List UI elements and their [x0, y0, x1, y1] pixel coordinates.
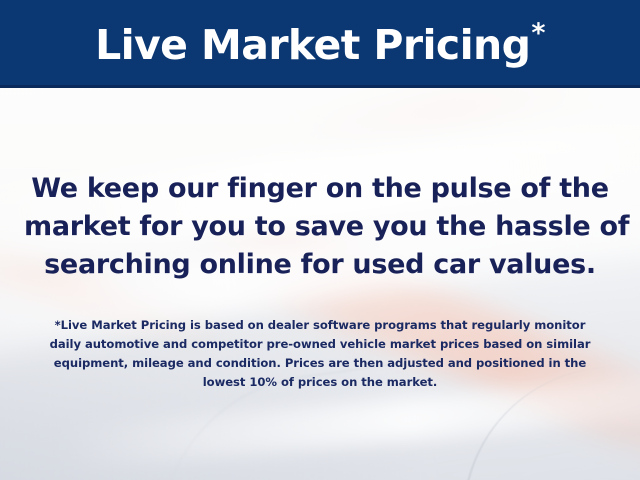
- content-area: We keep our finger on the pulse of the m…: [0, 88, 640, 480]
- header-band: Live Market Pricing*: [0, 0, 640, 88]
- headline-line-2: market for you to save you the hassle of: [24, 208, 616, 246]
- disclaimer-text: *Live Market Pricing is based on dealer …: [28, 316, 612, 392]
- disclaimer-line-2: daily automotive and competitor pre-owne…: [28, 335, 612, 354]
- page-title-asterisk: *: [531, 18, 545, 49]
- disclaimer-line-3: equipment, mileage and condition. Prices…: [28, 354, 612, 373]
- live-market-pricing-banner: Live Market Pricing* We keep our finger …: [0, 0, 640, 480]
- headline-line-3: searching online for used car values.: [24, 246, 616, 284]
- disclaimer-line-1: *Live Market Pricing is based on dealer …: [28, 316, 612, 335]
- headline: We keep our finger on the pulse of the m…: [24, 170, 616, 284]
- headline-line-1: We keep our finger on the pulse of the: [24, 170, 616, 208]
- page-title: Live Market Pricing*: [95, 20, 545, 66]
- disclaimer-line-4: lowest 10% of prices on the market.: [28, 373, 612, 392]
- page-title-text: Live Market Pricing: [95, 21, 530, 69]
